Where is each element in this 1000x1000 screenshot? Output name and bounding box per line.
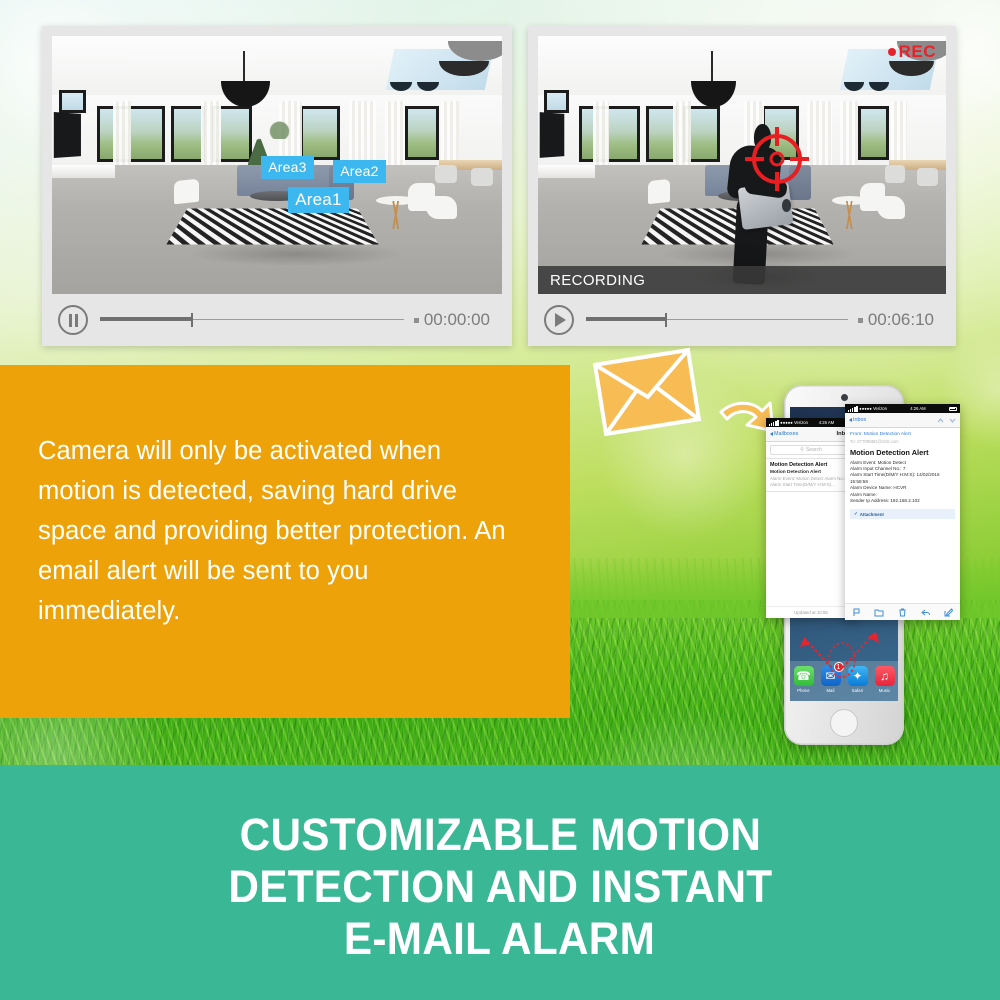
window	[405, 106, 439, 160]
reply-icon[interactable]	[921, 608, 931, 617]
play-icon	[555, 313, 566, 327]
body-line: Sender Ip Address: 192.168.2.102	[850, 498, 955, 504]
pause-icon	[69, 314, 78, 327]
floor-shadow	[187, 242, 403, 265]
chair	[174, 179, 199, 205]
back-label: Mailboxes	[774, 431, 798, 437]
chevron-up-icon[interactable]	[937, 417, 944, 424]
mail-to: To: 2770995D@192.com	[850, 439, 955, 444]
signal-bars-icon	[848, 406, 858, 412]
curtain	[840, 101, 858, 168]
compose-icon[interactable]	[944, 608, 953, 617]
updated-label: Updated at 10:55	[794, 610, 828, 615]
chevron-down-icon[interactable]	[949, 417, 956, 424]
stop-square-icon	[858, 318, 863, 323]
window	[858, 106, 889, 160]
mail-body: Alarm Event: Motion Detect Alarm Input C…	[845, 460, 960, 505]
curtain	[891, 101, 907, 168]
feature-description-panel: Camera will only be activated when motio…	[0, 365, 570, 718]
battery-icon	[949, 407, 957, 411]
video-frame-live: Area3 Area2 Area1	[52, 36, 502, 294]
side-table-legs	[838, 201, 862, 229]
ios-status-bar: ●●●●● Verizon 4:26 AM	[845, 404, 960, 413]
search-input[interactable]: ⚲ Search	[770, 445, 852, 455]
window	[544, 90, 568, 113]
dining-chair	[435, 165, 458, 183]
curtain	[385, 101, 405, 168]
motion-zone-tag-area2[interactable]: Area2	[333, 160, 385, 183]
side-table-legs	[383, 201, 410, 229]
list-item-sub-subject: Motion Detection Alert	[770, 470, 852, 475]
status-battery	[949, 407, 957, 411]
timestamp-value: 00:00:00	[424, 310, 490, 330]
patterned-rug	[166, 208, 378, 244]
flag-icon[interactable]	[852, 608, 861, 617]
stop-square-icon	[414, 318, 419, 323]
progress-fill	[586, 317, 665, 321]
recording-label: RECORDING	[550, 272, 645, 289]
record-dot-icon	[888, 48, 896, 56]
headline-banner: CUSTOMIZABLE MOTION DETECTION AND INSTAN…	[0, 765, 1000, 1000]
chevron-left-icon	[770, 432, 773, 436]
search-icon: ⚲	[800, 447, 804, 453]
player-controls-left: 00:00:00	[52, 294, 502, 346]
message-nav	[937, 417, 956, 424]
timestamp-right: 00:06:10	[858, 310, 940, 330]
progress-handle[interactable]	[191, 313, 193, 327]
pause-button[interactable]	[58, 305, 88, 335]
mail-inbox-window: ●●●●● Verizon 4:26 AM Mailboxes Inbox ⚲ …	[766, 418, 856, 618]
signal-bars-icon	[769, 420, 779, 426]
video-frame-recording: REC RECORDING	[538, 36, 946, 294]
status-time: 4:26 AM	[819, 420, 834, 425]
chair	[648, 179, 670, 205]
list-item-snippet: Alarm Event: Motion Detect Alarm No.: 7 …	[770, 476, 852, 488]
list-item-subject: Motion Detection Alert	[770, 462, 852, 468]
curtain	[673, 101, 691, 168]
carrier-label: ●●●●● Verizon	[859, 406, 887, 411]
body-line: Alarm Start Time(D/M/Y H:M:S): 14/02/201…	[850, 472, 955, 478]
headline-line-1: CUSTOMIZABLE MOTION	[239, 809, 761, 861]
rec-indicator: REC	[888, 42, 936, 62]
living-room-scene	[538, 36, 946, 294]
target-crosshair-icon	[744, 126, 810, 192]
back-label: Inbox	[853, 417, 866, 423]
search-placeholder: Search	[806, 447, 822, 453]
play-button[interactable]	[544, 305, 574, 335]
progress-handle[interactable]	[665, 313, 667, 327]
chair	[877, 196, 906, 219]
rec-label: REC	[899, 42, 936, 62]
status-time: 4:26 AM	[910, 406, 925, 411]
dining-chair	[885, 165, 905, 183]
inbox-nav-bar: Mailboxes Inbox	[766, 427, 856, 442]
window	[579, 106, 640, 163]
front-camera-icon	[841, 394, 848, 401]
video-player-left: Area3 Area2 Area1 00:00:00	[42, 26, 512, 346]
dock-app-label: Music	[875, 688, 895, 693]
carrier-label: ●●●●● Verizon	[780, 420, 808, 425]
paperclip-icon: ✓	[854, 511, 858, 517]
curtain	[113, 101, 131, 168]
attachment-label: Attachment	[860, 512, 884, 517]
timestamp-value: 00:06:10	[868, 310, 934, 330]
video-player-right: REC RECORDING 00:06:10	[528, 26, 956, 346]
mail-subject: Motion Detection Alert	[845, 446, 960, 460]
home-button-icon[interactable]	[830, 709, 858, 737]
media-console	[52, 165, 115, 178]
headline-line-3: E-MAIL ALARM	[344, 913, 655, 965]
media-console	[538, 165, 595, 178]
window	[300, 106, 341, 160]
mail-header: From: Motion Detection Alert To: 2770995…	[845, 428, 960, 446]
curtain	[441, 101, 459, 168]
back-to-mailboxes-button[interactable]: Mailboxes	[770, 431, 798, 437]
curtain	[201, 101, 221, 168]
status-carrier: ●●●●● Verizon	[848, 406, 887, 412]
dock-app-label: Phone	[794, 688, 814, 693]
recording-status-overlay: RECORDING	[538, 266, 946, 294]
attachment-row[interactable]: ✓ Attachment	[850, 509, 955, 519]
dining-chair	[471, 168, 494, 186]
chair	[426, 196, 458, 219]
trash-icon[interactable]	[898, 608, 907, 617]
window	[59, 90, 86, 113]
headline-line-2: DETECTION AND INSTANT	[228, 861, 772, 913]
annotation-circle-mail-icon	[826, 640, 858, 680]
motion-zone-tag-area3[interactable]: Area3	[261, 156, 313, 179]
detail-nav-bar: Inbox	[845, 413, 960, 428]
window	[97, 106, 165, 163]
progress-slider[interactable]	[586, 313, 848, 327]
progress-slider[interactable]	[100, 313, 404, 327]
mail-detail-window: ●●●●● Verizon 4:26 AM Inbox From: Motion…	[845, 404, 960, 620]
plant	[266, 113, 293, 139]
folder-icon[interactable]	[874, 608, 884, 617]
envelope-icon	[592, 345, 702, 440]
dining-chair	[917, 168, 937, 186]
television	[540, 113, 564, 159]
dock-app-label: Safari	[848, 688, 868, 693]
list-item[interactable]: Motion Detection Alert Motion Detection …	[766, 458, 856, 492]
chevron-left-icon	[849, 418, 852, 422]
progress-fill	[100, 317, 191, 321]
mail-from: From: Motion Detection Alert	[850, 432, 955, 437]
curtain	[593, 101, 609, 168]
timestamp-left: 00:00:00	[414, 310, 496, 330]
dock-app-label: Mail	[821, 688, 841, 693]
player-controls-right: 00:06:10	[538, 294, 946, 346]
television	[54, 112, 81, 158]
feature-description-text: Camera will only be activated when motio…	[38, 431, 510, 631]
search-row: ⚲ Search	[766, 442, 856, 458]
status-carrier: ●●●●● Verizon	[769, 420, 808, 426]
curtain	[349, 101, 376, 168]
motion-zone-tag-area1[interactable]: Area1	[288, 187, 348, 213]
back-to-inbox-button[interactable]: Inbox	[849, 417, 866, 423]
mail-action-toolbar	[845, 603, 960, 620]
ios-status-bar: ●●●●● Verizon 4:26 AM	[766, 418, 856, 427]
inbox-updated-status: Updated at 10:55	[766, 606, 856, 618]
